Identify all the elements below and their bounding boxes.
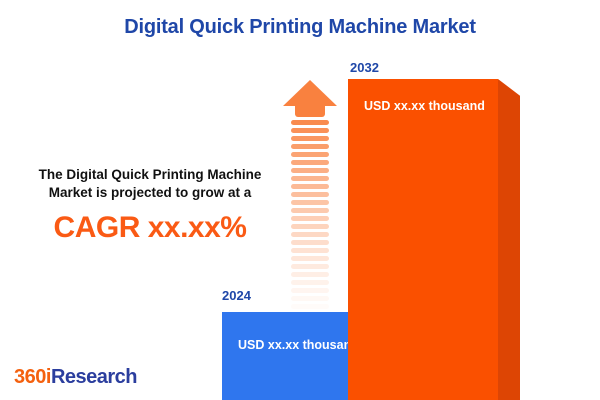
arrow-segment xyxy=(291,184,329,189)
arrow-segment xyxy=(291,208,329,213)
brand-logo-part-1: 360i xyxy=(14,366,51,388)
bar-2032-value-label: USD xx.xx thousand xyxy=(364,99,485,113)
summary-text-block: The Digital Quick Printing Machine Marke… xyxy=(14,166,286,245)
arrow-segment xyxy=(291,280,329,285)
arrow-segment xyxy=(291,248,329,253)
arrow-segment xyxy=(291,192,329,197)
cagr-value: CAGR xx.xx% xyxy=(14,211,286,245)
summary-line-1: The Digital Quick Printing Machine xyxy=(14,166,286,184)
arrow-segment xyxy=(291,120,329,125)
year-label-2024: 2024 xyxy=(222,288,251,303)
arrow-segment xyxy=(291,296,329,301)
year-label-2032: 2032 xyxy=(350,60,379,75)
summary-line-2: Market is projected to grow at a xyxy=(14,184,286,202)
arrow-neck-shape xyxy=(295,105,325,117)
bar-2032-side-face xyxy=(498,79,520,400)
arrow-segment xyxy=(291,168,329,173)
bar-2032: USD xx.xx thousand xyxy=(348,79,498,400)
arrow-segment xyxy=(291,128,329,133)
arrow-segment xyxy=(291,144,329,149)
infographic-canvas: Digital Quick Printing Machine Market Th… xyxy=(0,0,600,400)
brand-logo-part-2: Research xyxy=(51,366,137,388)
bar-2032-front-face xyxy=(348,79,498,400)
arrow-segment xyxy=(291,160,329,165)
arrow-segment xyxy=(291,176,329,181)
brand-logo: 360iResearch xyxy=(14,366,137,389)
arrow-segment xyxy=(291,152,329,157)
arrow-segment xyxy=(291,304,329,309)
bar-2024-value-label: USD xx.xx thousand xyxy=(238,338,359,352)
arrow-segment xyxy=(291,200,329,205)
arrow-segment xyxy=(291,288,329,293)
arrow-head-shape xyxy=(283,80,337,106)
arrow-segment xyxy=(291,256,329,261)
arrow-segment xyxy=(291,224,329,229)
arrow-segment xyxy=(291,232,329,237)
page-title: Digital Quick Printing Machine Market xyxy=(0,16,600,39)
arrow-segment xyxy=(291,240,329,245)
growth-arrow-icon xyxy=(283,80,337,295)
arrow-segment xyxy=(291,136,329,141)
arrow-segment xyxy=(291,264,329,269)
arrow-segment xyxy=(291,216,329,221)
arrow-segment xyxy=(291,272,329,277)
